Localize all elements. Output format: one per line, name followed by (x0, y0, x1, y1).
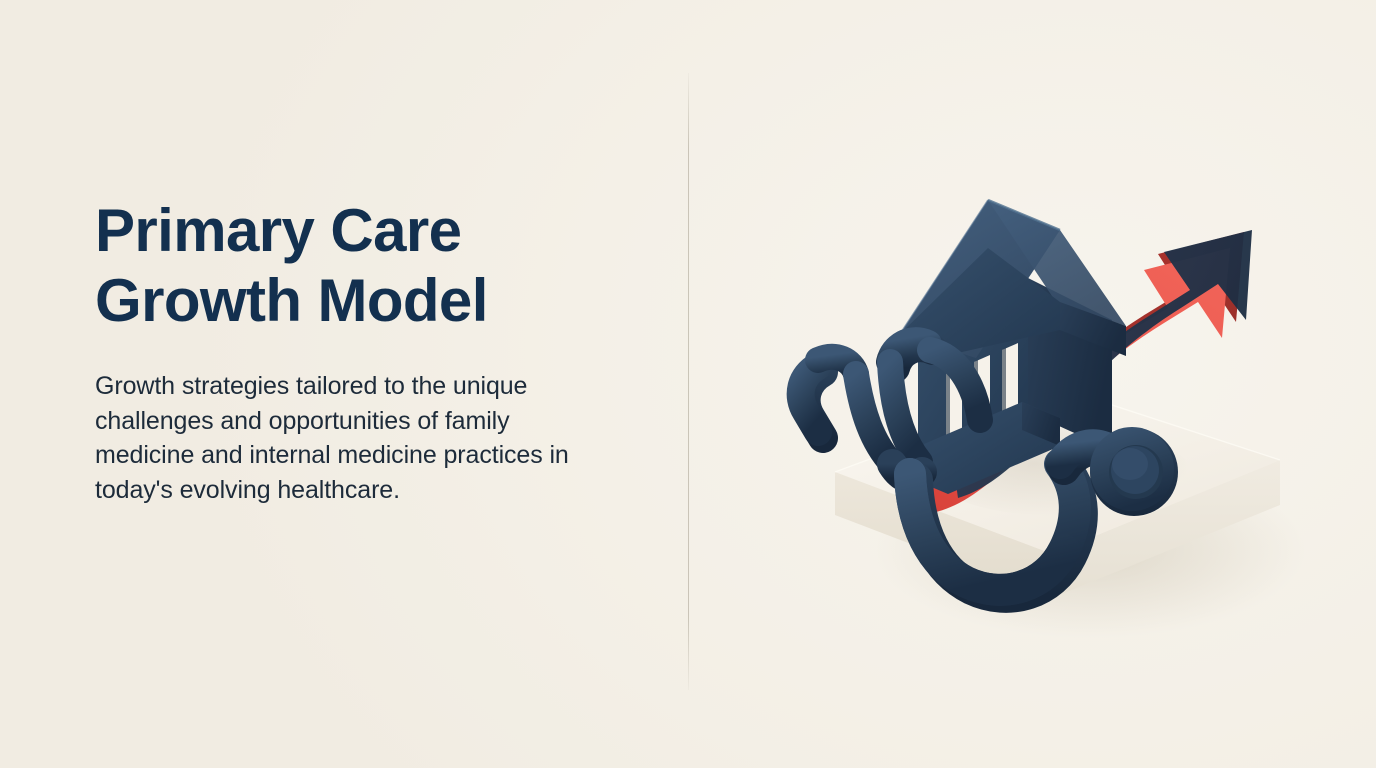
slide-root: Primary Care Growth Model Growth strateg… (0, 0, 1376, 768)
page-subtitle: Growth strategies tailored to the unique… (95, 335, 595, 507)
text-column: Primary Care Growth Model Growth strateg… (95, 196, 615, 507)
illustration-stethoscope-growth (760, 120, 1320, 660)
vertical-divider (688, 73, 689, 690)
page-title: Primary Care Growth Model (95, 196, 615, 335)
